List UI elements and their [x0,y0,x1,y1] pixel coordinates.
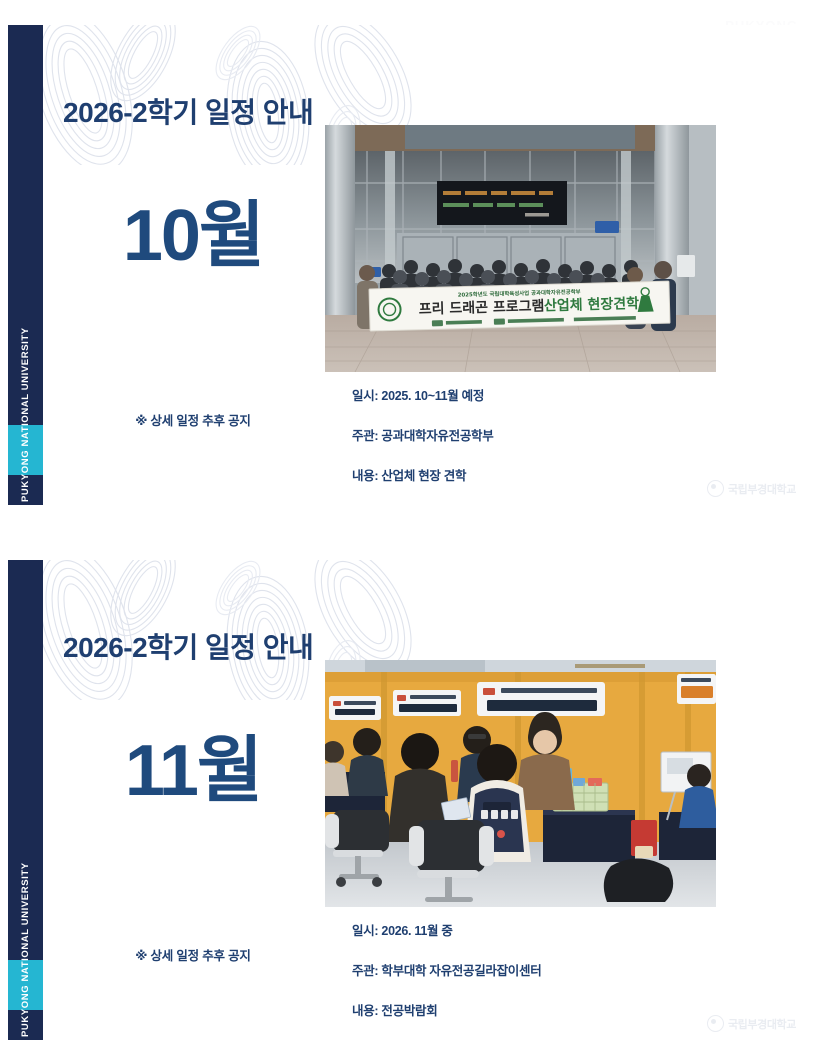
slide-november: PUKYONG NATIONAL UNIVERSITY [8,560,808,1040]
page-title: 2026-2학기 일정 안내 [63,91,313,131]
schedule-note: ※ 상세 일정 추후 공지 [63,410,323,429]
event-photo-november [325,660,716,907]
detail-date: 일시: 2025. 10~11월 예정 [352,385,752,404]
slide-sidebar: PUKYONG NATIONAL UNIVERSITY [8,560,43,1040]
university-logo-watermark: 국립부경대학교 [707,1015,796,1032]
svg-text:산업체 현장견학: 산업체 현장견학 [544,295,640,314]
poster-page: PUKYONG PUKYONG NATIONAL UNIVERSITY [0,0,816,1056]
detail-content: 내용: 전공박람회 [352,1000,752,1019]
detail-host: 주관: 학부대학 자유전공길라잡이센터 [352,960,752,979]
event-details-list-october: 일시: 2025. 10~11월 예정 주관: 공과대학자유전공학부 내용: 산… [352,385,752,505]
svg-text:프리 드래곤 프로그램: 프리 드래곤 프로그램 [418,297,544,317]
month-label: 10월 [63,200,323,272]
sidebar-university-label: PUKYONG NATIONAL UNIVERSITY [8,860,43,1040]
university-logo-text: 국립부경대학교 [728,481,796,497]
event-details-list-november: 일시: 2026. 11월 중 주관: 학부대학 자유전공길라잡이센터 내용: … [352,920,752,1040]
university-emblem-icon [707,480,724,497]
slide-october: PUKYONG NATIONAL UNIVERSITY [8,25,808,505]
university-logo-text: 국립부경대학교 [728,1016,796,1032]
university-logo-watermark: 국립부경대학교 [707,480,796,497]
slide-sidebar: PUKYONG NATIONAL UNIVERSITY [8,25,43,505]
detail-content: 내용: 산업체 현장 견학 [352,465,752,484]
event-photo-october: 2025학년도 국립대학육성사업 공과대학자유전공학부 프리 드래곤 프로그램 … [325,125,716,372]
month-label: 11월 [63,735,323,807]
schedule-note: ※ 상세 일정 추후 공지 [63,945,323,964]
sidebar-university-label: PUKYONG NATIONAL UNIVERSITY [8,325,43,505]
detail-date: 일시: 2026. 11월 중 [352,920,752,939]
detail-host: 주관: 공과대학자유전공학부 [352,425,752,444]
page-title: 2026-2학기 일정 안내 [63,626,313,666]
university-emblem-icon [707,1015,724,1032]
